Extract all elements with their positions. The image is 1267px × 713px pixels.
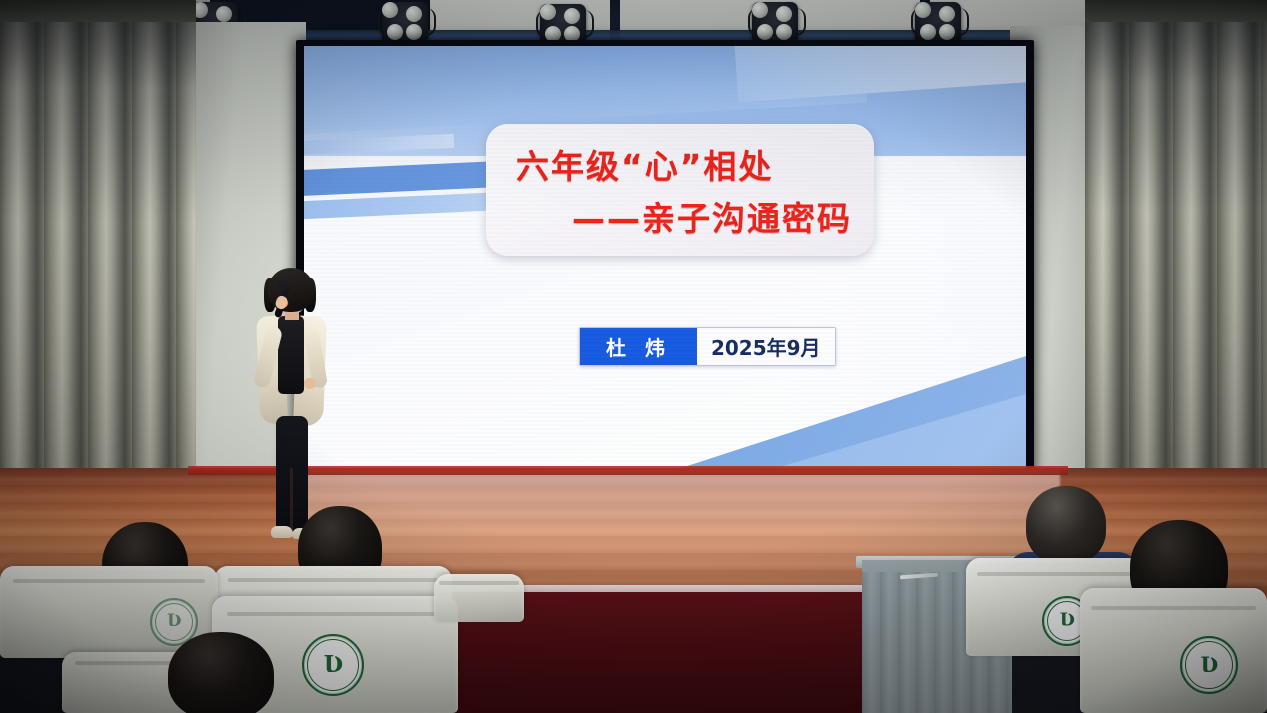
- attendee-head-front-left: [168, 632, 274, 713]
- emblem-mark: Ʋ: [1059, 612, 1075, 630]
- slide-title-line-1: 六年级“心”相处: [516, 140, 773, 188]
- chair-right-far[interactable]: Ʋ: [1080, 588, 1267, 713]
- stage-curtain-right: [1085, 0, 1267, 530]
- slide-title-line-2: ——亲子沟通密码: [572, 192, 852, 240]
- emblem-mark: Ʋ: [323, 653, 343, 676]
- attendee-head: [1026, 486, 1106, 564]
- presenter-hand-right: [304, 378, 316, 389]
- microphone-head-icon: [278, 280, 288, 290]
- school-emblem-icon: Ʋ: [1180, 636, 1238, 694]
- emblem-mark: Ʋ: [166, 613, 181, 630]
- school-emblem-icon: Ʋ: [302, 634, 364, 696]
- slide-title-plaque: 六年级“心”相处 ——亲子沟通密码: [486, 124, 874, 256]
- presentation-date: 2025年9月: [697, 328, 835, 365]
- emblem-mark: Ʋ: [1200, 654, 1219, 675]
- par-light-icon: [915, 2, 961, 44]
- presenter-inner-top: [278, 316, 304, 394]
- par-light-icon: [382, 2, 428, 44]
- slide-corner-wedge-light: [776, 394, 1026, 468]
- presenter-name-badge: 杜 炜: [580, 328, 697, 365]
- slide-byline: 杜 炜 2025年9月: [579, 327, 836, 366]
- presenter-shoe-left: [271, 526, 293, 538]
- presenter-leg-separation: [290, 468, 293, 532]
- par-light-icon: [752, 2, 798, 44]
- lecture-hall-photo: 六年级“心”相处 ——亲子沟通密码 杜 炜 2025年9月: [0, 0, 1267, 713]
- chair-aisle[interactable]: [434, 574, 524, 622]
- presentation-screen: 六年级“心”相处 ——亲子沟通密码 杜 炜 2025年9月: [304, 46, 1026, 468]
